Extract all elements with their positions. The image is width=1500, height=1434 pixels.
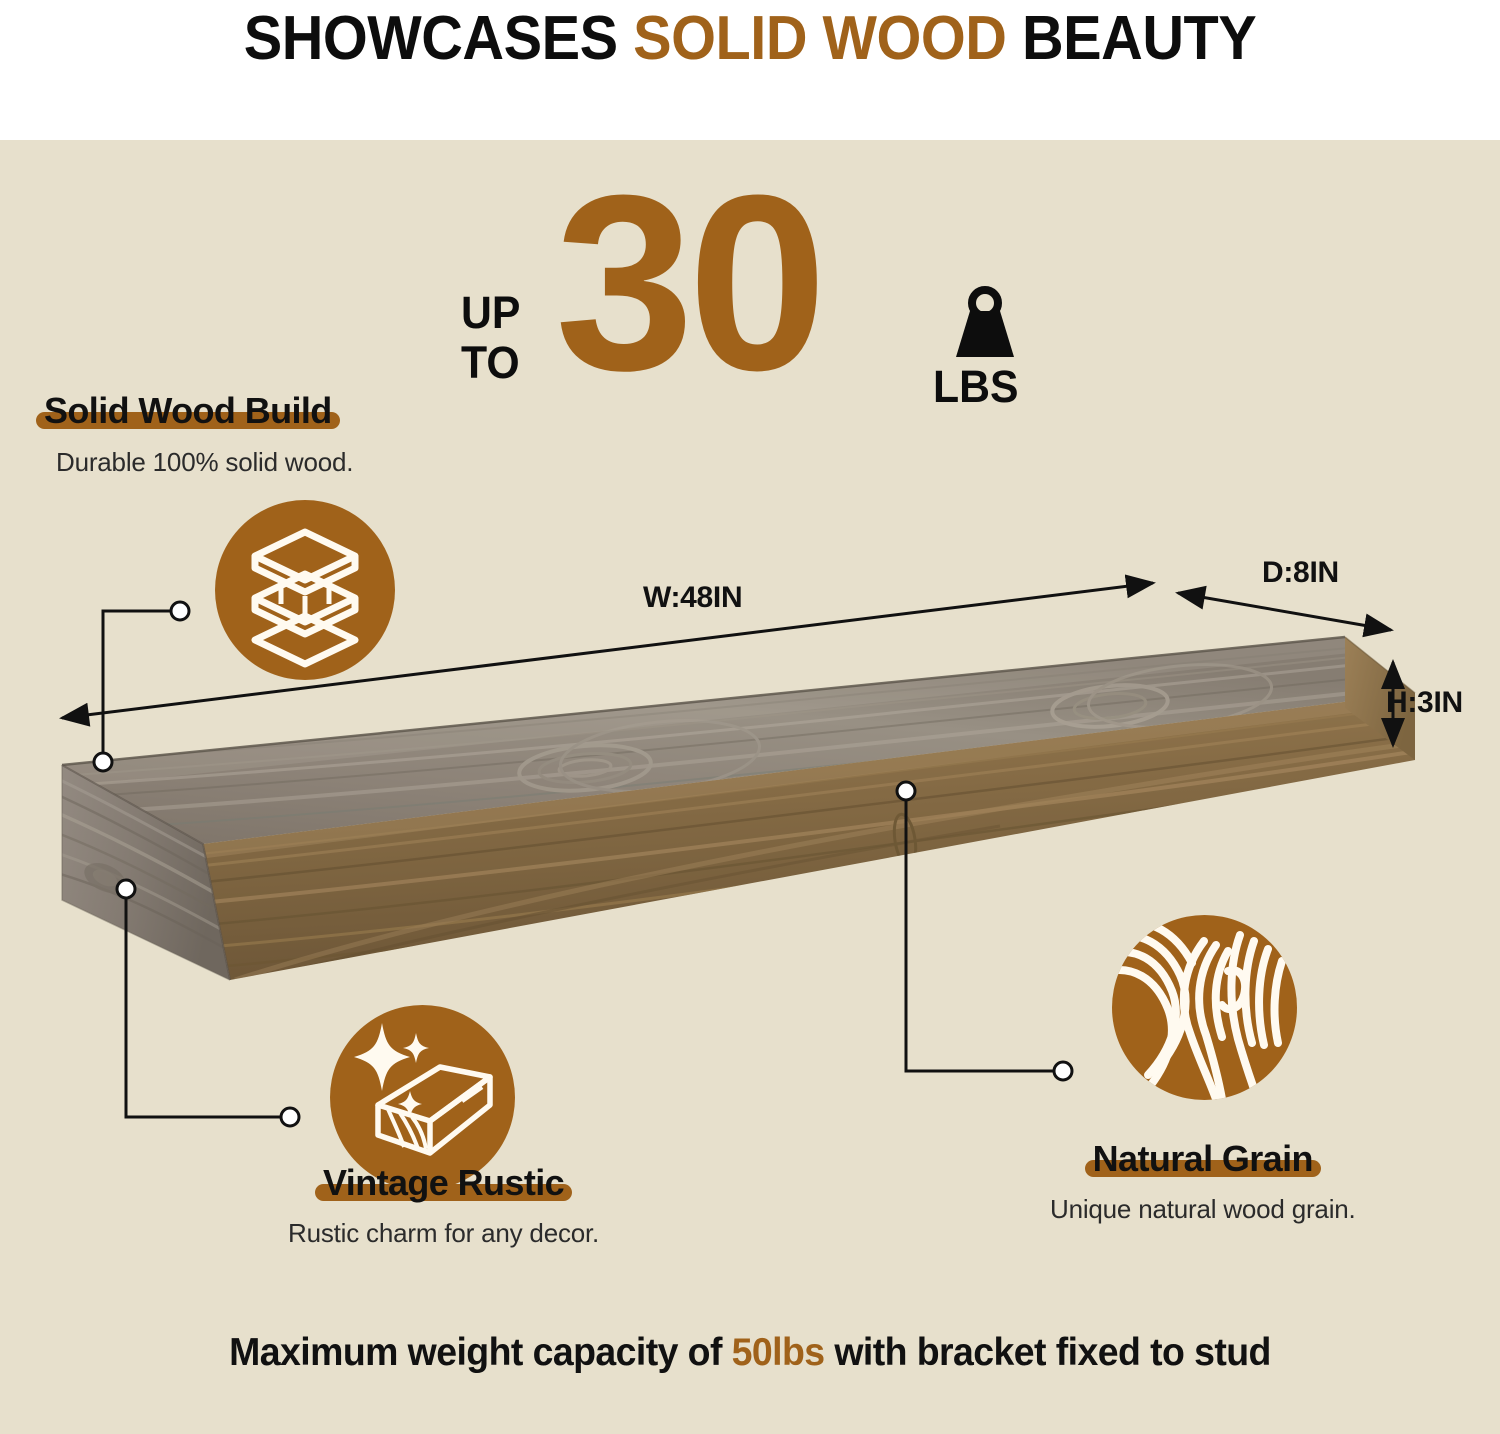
up-to-label: UPTO — [461, 288, 520, 388]
headline-part-1: SHOWCASES — [244, 4, 633, 73]
headline-part-2: BEAUTY — [1006, 4, 1256, 73]
weight-capacity-block: UPTO 30 LBS — [455, 178, 1075, 418]
weight-icon — [940, 283, 1030, 373]
feature-title: Solid Wood Build — [44, 390, 332, 431]
feature-subtitle: Unique natural wood grain. — [1050, 1193, 1356, 1225]
feature-vintage-rustic: Vintage Rustic Rustic charm for any deco… — [288, 1162, 599, 1249]
headline-accent: SOLID WOOD — [633, 4, 1006, 73]
height-label: H:3IN — [1386, 686, 1463, 720]
to-label: TO — [461, 337, 520, 388]
feature-solid-wood-build: Solid Wood Build Durable 100% solid wood… — [44, 390, 353, 478]
width-label: W:48IN — [643, 581, 742, 615]
feature-subtitle: Durable 100% solid wood. — [56, 446, 353, 478]
footer-part-1: Maximum weight capacity of — [229, 1331, 731, 1374]
footer-accent: 50lbs — [732, 1331, 825, 1374]
feature-title: Vintage Rustic — [323, 1162, 564, 1203]
footer-part-2: with bracket fixed to stud — [825, 1331, 1271, 1374]
wood-grain-swirl-icon — [1112, 915, 1297, 1100]
infographic-canvas: SHOWCASES SOLID WOOD BEAUTY — [0, 0, 1500, 1434]
layered-wood-panels-icon — [215, 500, 395, 680]
footer-capacity-note: Maximum weight capacity of 50lbs with br… — [30, 1330, 1470, 1376]
feature-natural-grain: Natural Grain Unique natural wood grain. — [1050, 1138, 1356, 1225]
page-title: SHOWCASES SOLID WOOD BEAUTY — [53, 4, 1448, 74]
up-label: UP — [461, 287, 520, 338]
feature-title-wrap: Vintage Rustic — [323, 1162, 564, 1204]
feature-title: Natural Grain — [1093, 1138, 1313, 1179]
capacity-number: 30 — [555, 158, 821, 408]
capacity-unit: LBS — [933, 363, 1019, 411]
feature-subtitle: Rustic charm for any decor. — [288, 1217, 599, 1249]
depth-label: D:8IN — [1262, 556, 1339, 590]
feature-title-wrap: Natural Grain — [1093, 1138, 1313, 1180]
feature-title-wrap: Solid Wood Build — [44, 390, 332, 432]
